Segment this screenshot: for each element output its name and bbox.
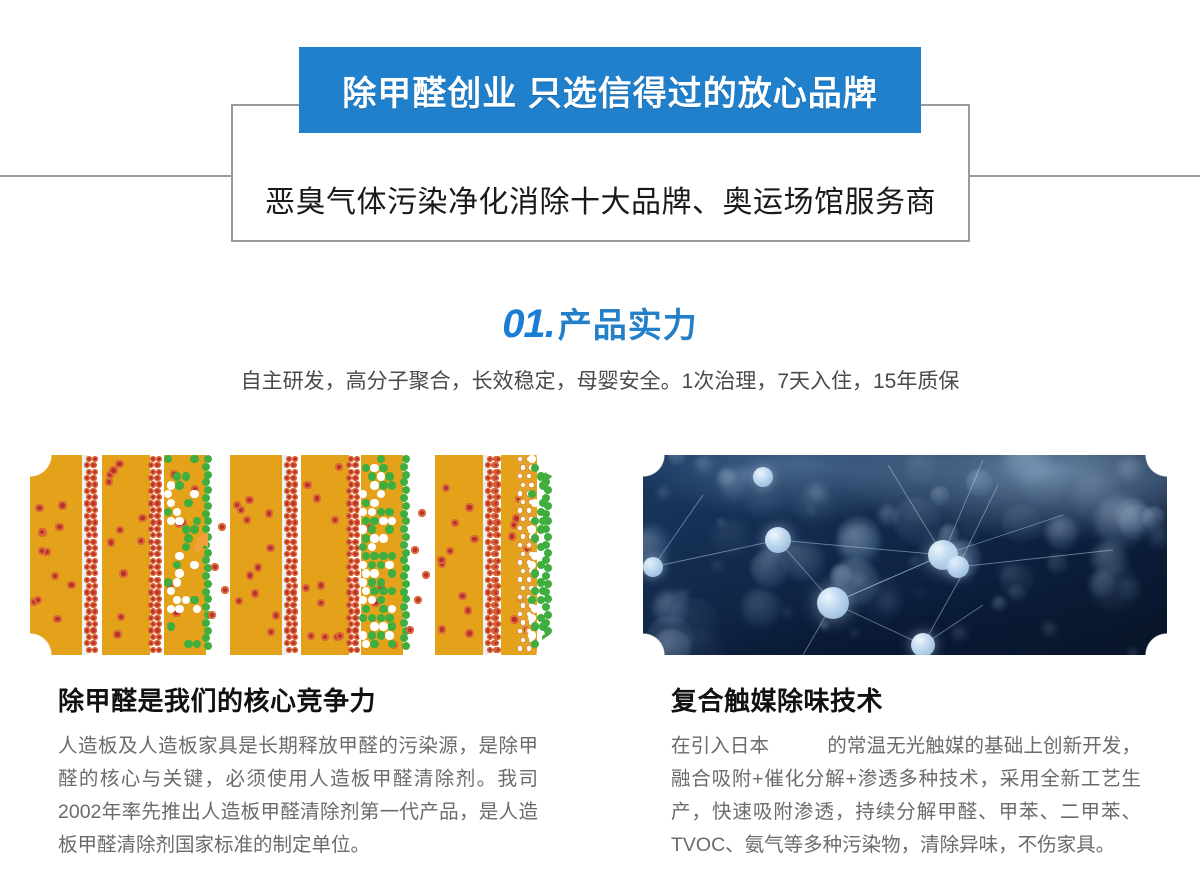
card-left-body: 人造板及人造板家具是长期释放甲醛的污染源，是除甲醛的核心与关键，必须使用人造板甲…: [58, 730, 538, 862]
card-right-title: 复合触媒除味技术: [671, 681, 1167, 718]
card-right-thumbnail: [643, 455, 1167, 655]
card-left-thumbnail: [30, 455, 558, 655]
section-name: 产品实力: [558, 307, 698, 345]
header-banner-text: 除甲醛创业 只选信得过的放心品牌: [342, 66, 877, 115]
feature-cards: 除甲醛是我们的核心竞争力 人造板及人造板家具是长期释放甲醛的污染源，是除甲醛的核…: [0, 455, 1200, 888]
header-banner: 除甲醛创业 只选信得过的放心品牌: [299, 47, 921, 133]
feature-card-right: 复合触媒除味技术 在引入日本的常温无光触媒的基础上创新开发，融合吸附+催化分解+…: [643, 455, 1167, 862]
page-header: 恶臭气体污染净化消除十大品牌、奥运场馆服务商 除甲醛创业 只选信得过的放心品牌: [0, 0, 1200, 270]
board-layers-illustration: [30, 455, 558, 655]
feature-card-left: 除甲醛是我们的核心竞争力 人造板及人造板家具是长期释放甲醛的污染源，是除甲醛的核…: [30, 455, 558, 862]
card-right-body-part1: 在引入日本: [671, 735, 769, 757]
section-subtitle: 自主研发，高分子聚合，长效稳定，母婴安全。1次治理，7天入住，15年质保: [0, 365, 1200, 395]
section-heading: 01.产品实力: [0, 298, 1200, 347]
molecular-network-image: [643, 455, 1167, 655]
card-left-title: 除甲醛是我们的核心竞争力: [58, 681, 558, 718]
section-number: 01.: [502, 302, 555, 346]
card-right-body: 在引入日本的常温无光触媒的基础上创新开发，融合吸附+催化分解+渗透多种技术，采用…: [671, 730, 1141, 862]
